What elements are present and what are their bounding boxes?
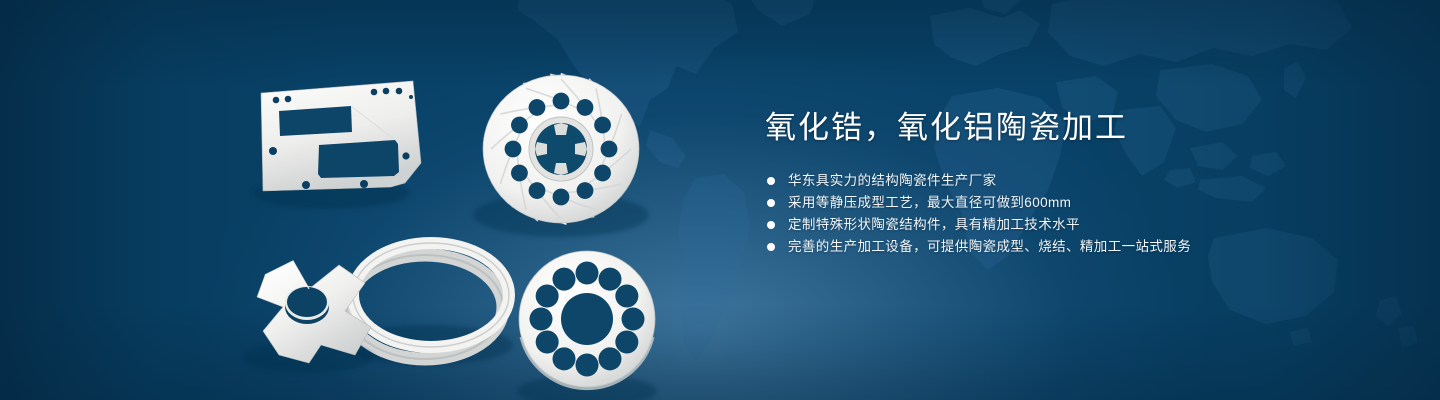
list-item: 华东具实力的结构陶瓷件生产厂家	[765, 170, 1405, 192]
bullet-dot-icon	[767, 177, 775, 185]
banner-feature-list: 华东具实力的结构陶瓷件生产厂家 采用等静压成型工艺，最大直径可做到600mm 定…	[765, 170, 1405, 258]
list-item: 完善的生产加工设备，可提供陶瓷成型、烧结、精加工一站式服务	[765, 236, 1405, 258]
ceramic-plate-part	[253, 81, 421, 209]
bullet-text: 定制特殊形状陶瓷结构件，具有精加工技术水平	[788, 214, 1080, 236]
bullet-dot-icon	[767, 221, 775, 229]
list-item: 定制特殊形状陶瓷结构件，具有精加工技术水平	[765, 214, 1405, 236]
bullet-dot-icon	[767, 199, 775, 207]
ceramic-ring-parts	[341, 243, 513, 365]
bullet-text: 采用等静压成型工艺，最大直径可做到600mm	[788, 192, 1071, 214]
bullet-dot-icon	[767, 243, 775, 251]
ceramic-perforated-disc-part	[517, 251, 657, 400]
ceramic-processing-banner: 氧化锆，氧化铝陶瓷加工 华东具实力的结构陶瓷件生产厂家 采用等静压成型工艺，最大…	[0, 0, 1440, 400]
list-item: 采用等静压成型工艺，最大直径可做到600mm	[765, 192, 1405, 214]
banner-headline: 氧化锆，氧化铝陶瓷加工	[765, 108, 1405, 148]
banner-copy-block: 氧化锆，氧化铝陶瓷加工 华东具实力的结构陶瓷件生产厂家 采用等静压成型工艺，最大…	[765, 108, 1405, 258]
ceramic-cross-part	[241, 261, 373, 373]
bullet-text: 完善的生产加工设备，可提供陶瓷成型、烧结、精加工一站式服务	[788, 236, 1191, 258]
ceramic-impeller-part	[473, 71, 649, 237]
bullet-text: 华东具实力的结构陶瓷件生产厂家	[788, 170, 997, 192]
ceramic-products-photo	[235, 45, 705, 385]
